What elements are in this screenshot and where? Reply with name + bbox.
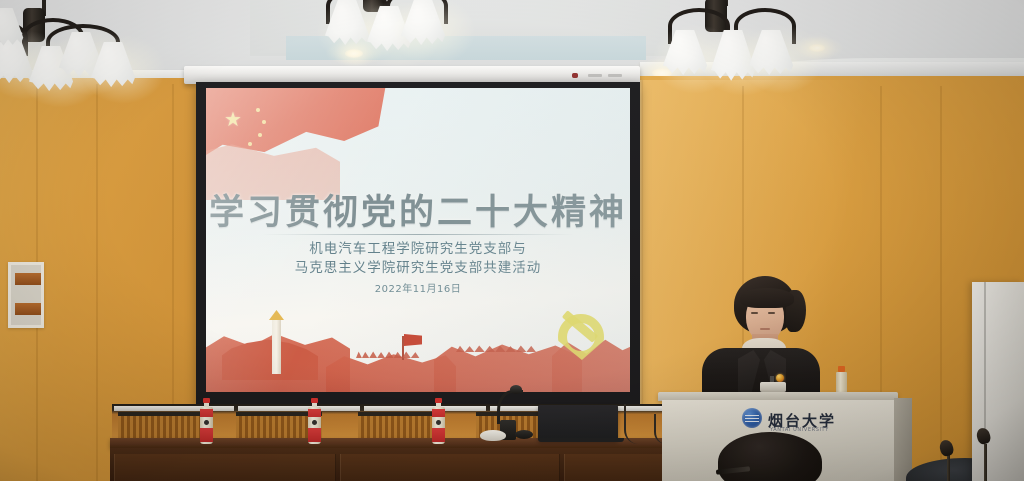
wall-panel-seam xyxy=(940,86,942,481)
speaker-eye xyxy=(768,312,775,314)
star-icon xyxy=(258,133,262,137)
vent-slat xyxy=(15,303,41,315)
slide-divider xyxy=(262,234,574,235)
artwork-monument-top xyxy=(269,310,284,320)
artwork-monument-icon xyxy=(272,316,281,374)
wall-panel-seam xyxy=(96,84,98,481)
gooseneck-microphone xyxy=(497,390,523,424)
computer-mouse xyxy=(515,430,533,439)
stand-pole xyxy=(984,444,987,481)
slide-date: 2022年11月16日 xyxy=(206,280,630,295)
speaker-eye xyxy=(751,312,758,314)
head-table-panel xyxy=(564,454,668,481)
star-icon xyxy=(248,142,252,146)
slide-title: 学习贯彻党的二十大精神 xyxy=(206,184,630,235)
av-cable xyxy=(624,404,644,444)
chandelier-left xyxy=(0,0,150,90)
housing-marking xyxy=(588,74,602,77)
conference-hall-photo: ★ 学习贯彻党的二十大精神 机电汽车工程学院研究生党支部与 马克思主义学院研究生… xyxy=(0,0,1024,481)
microphone-stand xyxy=(974,428,996,481)
star-icon: ★ xyxy=(224,110,242,130)
slide-artwork xyxy=(206,296,630,392)
microphone-capsule-icon xyxy=(510,385,522,394)
bottle-logo-icon xyxy=(436,420,441,425)
head-table-panel xyxy=(114,454,336,481)
table-rail xyxy=(364,406,486,411)
bottle-label-top xyxy=(200,409,213,417)
head-table-panel xyxy=(340,454,560,481)
microphone-stand xyxy=(938,440,958,481)
bottle-body xyxy=(836,372,847,394)
bottle-label-bottom xyxy=(308,428,321,442)
table-rail xyxy=(238,406,360,411)
star-icon xyxy=(256,108,260,112)
podium-microphone xyxy=(760,382,786,392)
water-bottle xyxy=(432,398,445,444)
bottle-logo-icon xyxy=(312,420,317,425)
vent-slat xyxy=(15,273,41,285)
water-bottle xyxy=(308,398,321,444)
monitor-base xyxy=(538,438,624,442)
housing-marking xyxy=(608,74,622,77)
microphone-head-icon xyxy=(975,427,992,446)
chandelier-center xyxy=(318,0,458,46)
presentation-slide: ★ 学习贯彻党的二十大精神 机电汽车工程学院研究生党支部与 马克思主义学院研究生… xyxy=(206,88,630,392)
party-emblem-lapel-pin xyxy=(776,374,784,382)
artwork-crowd xyxy=(356,350,422,358)
slide-subtitle-line-1: 机电汽车工程学院研究生党支部与 xyxy=(206,240,630,259)
bottle-label-top xyxy=(308,409,321,417)
bottle-logo-icon xyxy=(204,420,209,425)
wall-panel-seam xyxy=(172,84,174,404)
bottle-label-bottom xyxy=(200,428,213,442)
bottle-label-top xyxy=(432,409,445,417)
microphone-head-icon xyxy=(938,439,955,458)
hammer-and-sickle-icon xyxy=(554,310,618,368)
chandelier-right xyxy=(648,0,808,94)
desk-pad xyxy=(480,430,506,441)
artwork-flag-icon xyxy=(404,334,422,346)
seal-inner-mark xyxy=(745,415,759,422)
wall-vent-panel xyxy=(8,262,44,328)
bottle-label-bottom xyxy=(432,428,445,442)
stand-pole xyxy=(947,454,950,481)
water-bottle xyxy=(200,398,213,444)
speaker-mouth xyxy=(760,328,770,330)
table-rail xyxy=(114,406,234,411)
podium-side-panel xyxy=(894,398,912,481)
power-indicator-icon xyxy=(572,73,578,78)
speaker-fringe xyxy=(740,288,794,308)
university-seal-icon xyxy=(742,408,762,428)
podium-water-bottle xyxy=(836,366,847,394)
desktop-monitor xyxy=(538,405,618,441)
slide-subtitle-line-2: 马克思主义学院研究生党支部共建活动 xyxy=(206,259,630,278)
slide-subtitle: 机电汽车工程学院研究生党支部与 马克思主义学院研究生党支部共建活动 xyxy=(206,240,630,278)
star-icon xyxy=(262,120,266,124)
